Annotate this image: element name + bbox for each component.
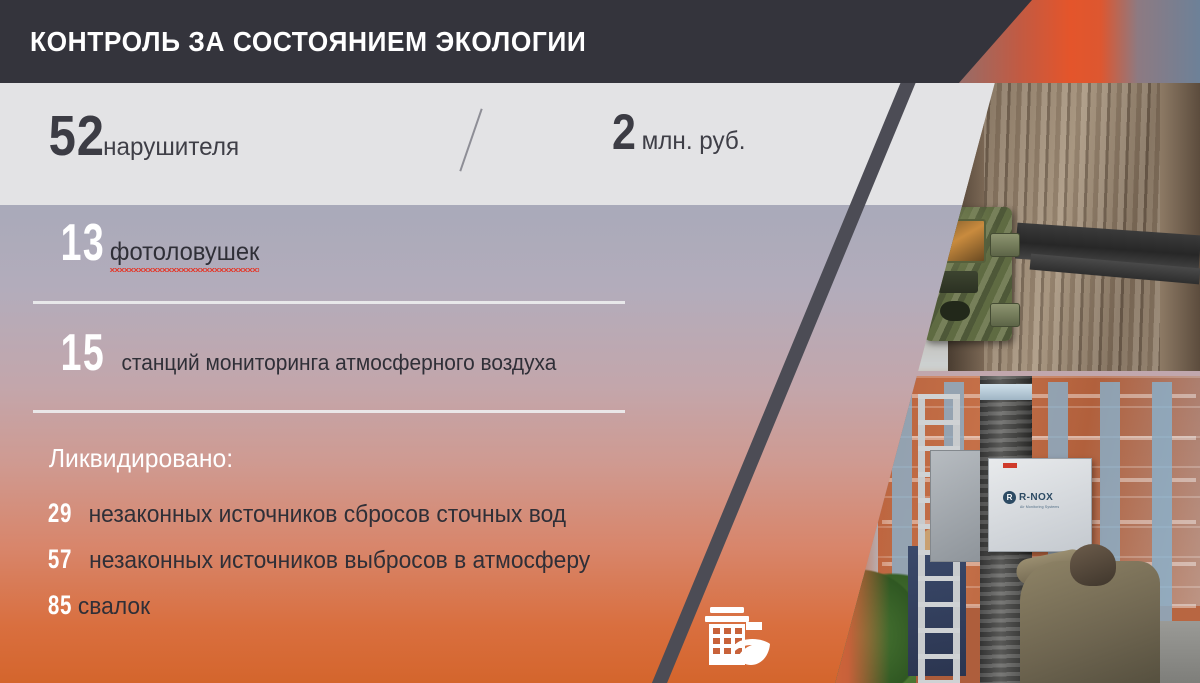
stat-air-stations-label: станций мониторинга атмосферного воздуха: [121, 350, 556, 376]
eliminated-item-wastewater-value: 29: [48, 498, 72, 529]
slash-divider-icon: [459, 108, 482, 171]
eliminated-title: Ликвидировано:: [49, 443, 233, 474]
stat-fines-value: 2: [612, 103, 636, 161]
rnox-tagline: Air Monitoring Systems: [1020, 505, 1059, 509]
photo-rnox-monitoring-cabinet: R R-NOX Air Monitoring Systems: [988, 458, 1092, 552]
stat-fines: 2 млн. руб.: [610, 103, 747, 161]
photo-pole-tape-band: [980, 384, 1032, 400]
eliminated-item-dumps-label: свалок: [78, 593, 150, 621]
separator-line-2: [33, 410, 625, 413]
cabinet-red-marker: [1003, 463, 1017, 468]
city-eco-building-leaf-logo-icon: [700, 605, 772, 667]
photo-secondary-equipment-box: [930, 450, 984, 562]
photo-worker-head: [1070, 544, 1116, 586]
stat-violators: 52 нарушителя: [44, 103, 242, 169]
rnox-brand-lockup: R R-NOX: [1003, 491, 1053, 504]
camera-motion-sensor: [938, 271, 978, 293]
camera-strap-clip-bottom: [990, 303, 1020, 327]
eliminated-item-emissions-label: незаконных источников выбросов в атмосфе…: [89, 547, 590, 575]
stat-fines-label: млн. руб.: [641, 127, 745, 156]
camera-ir-emitter: [940, 301, 970, 321]
stat-violators-label: нарушителя: [104, 133, 240, 162]
rnox-brand-text: R-NOX: [1019, 492, 1053, 503]
eliminated-item-emissions: 57 незаконных источников выбросов в атмо…: [44, 544, 603, 575]
eliminated-item-wastewater-label: незаконных источников сбросов сточных во…: [89, 501, 566, 529]
eliminated-item-dumps: 85 свалок: [44, 590, 152, 621]
stat-camera-traps: 13 фотоловушек: [52, 213, 263, 273]
content-area: 52 нарушителя 2 млн. руб. 13 фотоловушек…: [0, 83, 860, 683]
infographic-root: R R-NOX Air Monitoring Systems КОНТРОЛЬ …: [0, 0, 1200, 683]
stat-violators-value: 52: [49, 103, 105, 169]
rnox-logo-icon: R: [1003, 491, 1016, 504]
separator-line-1: [33, 301, 625, 304]
camera-strap-clip-top: [990, 233, 1020, 257]
eliminated-item-dumps-value: 85: [48, 590, 72, 621]
eliminated-item-emissions-value: 57: [48, 544, 72, 575]
page-title: КОНТРОЛЬ ЗА СОСТОЯНИЕМ ЭКОЛОГИИ: [30, 0, 586, 83]
stat-camera-traps-label: фотоловушек: [110, 238, 259, 272]
photo-tree-bark-right-edge: [1160, 83, 1200, 371]
stat-air-stations-value: 15: [61, 323, 106, 383]
stat-air-stations: 15 станций мониторинга атмосферного возд…: [52, 323, 568, 383]
stat-camera-traps-value: 13: [61, 213, 106, 273]
eliminated-item-wastewater: 29 незаконных источников сбросов сточных…: [44, 498, 579, 529]
top-stats-row: 52 нарушителя 2 млн. руб.: [0, 83, 900, 205]
